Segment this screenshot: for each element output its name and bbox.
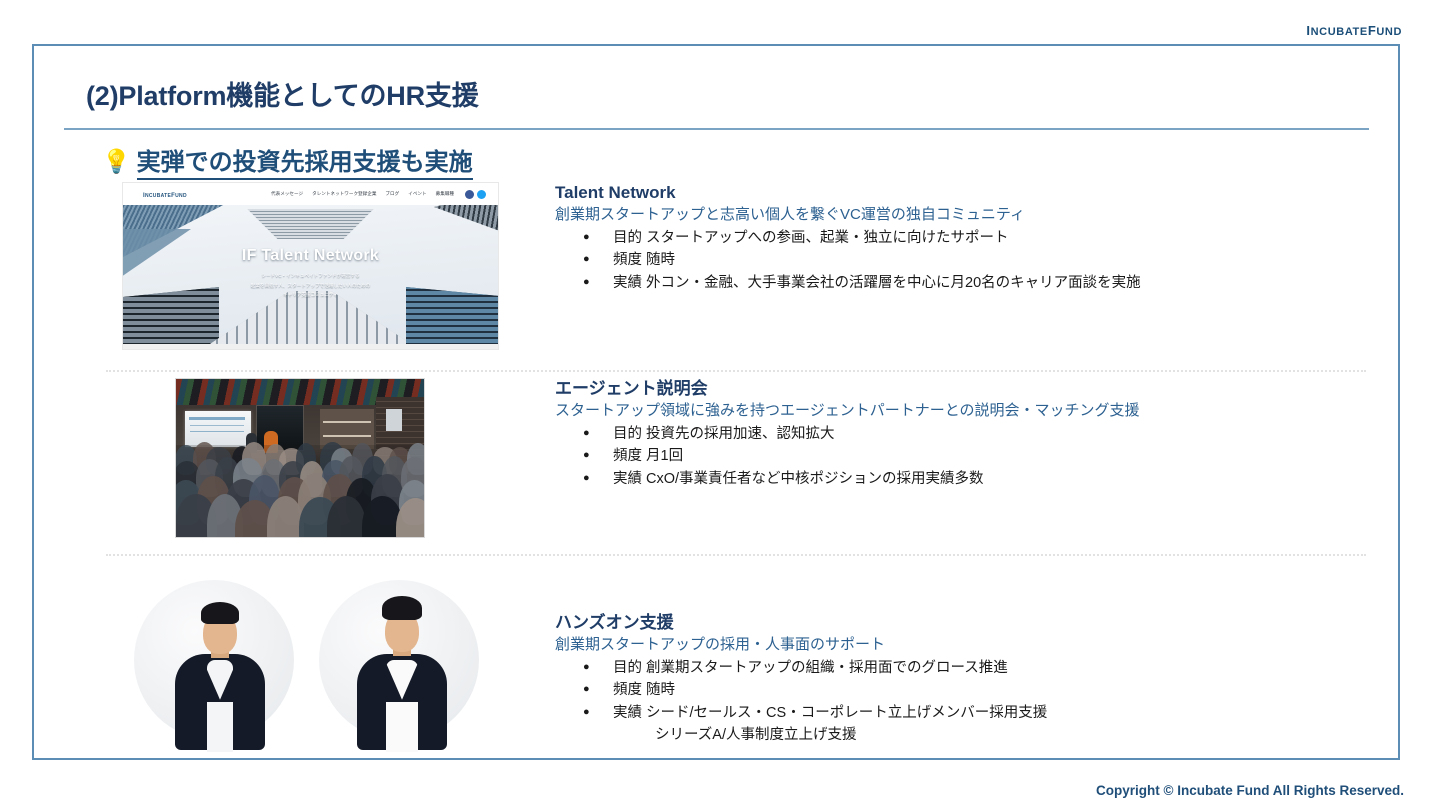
facebook-icon [465, 190, 474, 199]
incubate-fund-logo: IncubateFund [1306, 20, 1402, 39]
section-divider [106, 554, 1366, 556]
section-divider [106, 370, 1366, 372]
slide-canvas: IncubateFund (2)Platform機能としてのHR支援 💡 実弾で… [0, 0, 1440, 810]
title-divider [64, 128, 1369, 130]
block-bullet-list: 目的 創業期スタートアップの組織・採用面でのグロース推進 頻度 随時 実績 シー… [555, 657, 1385, 747]
building-top-right [434, 205, 498, 243]
website-navbar: IncubateFund 代表メッセージ タレントネットワーク登録企業 ブログ … [123, 183, 498, 205]
nav-link: 募集職種 [436, 191, 454, 197]
twitter-icon [477, 190, 486, 199]
block-title: ハンズオン支援 [555, 612, 1385, 633]
hero-sub-line: キャリア支援コミュニティ [123, 290, 498, 300]
lightbulb-icon: 💡 [102, 150, 131, 173]
page-title: (2)Platform機能としてのHR支援 [86, 74, 479, 113]
block-copy-agent-briefing: エージェント説明会 スタートアップ領域に強みを持つエージェントパートナーとの説明… [555, 378, 1385, 490]
bullet-item: 頻度 随時 [555, 249, 1385, 271]
portrait-hair [382, 596, 422, 620]
portrait-suit [357, 654, 447, 750]
portrait-lapel-right [401, 656, 421, 702]
website-hero-title: IF Talent Network [123, 247, 498, 265]
footer-copyright: Copyright © Incubate Fund All Rights Res… [1096, 783, 1404, 798]
nav-link: ブログ [385, 191, 399, 197]
member-portraits [134, 572, 504, 752]
nav-link: イベント [408, 191, 426, 197]
nav-link: 代表メッセージ [271, 191, 303, 197]
block-bullet-list: 目的 スタートアップへの参画、起業・独立に向けたサポート 頻度 随時 実績 外コ… [555, 227, 1385, 294]
hero-sub-line: 起業を目指す人、スタートアップで活躍したい人のための [123, 281, 498, 291]
block-subtitle: スタートアップ領域に強みを持つエージェントパートナーとの説明会・マッチング支援 [555, 401, 1385, 421]
bullet-item: 実績 CxO/事業責任者など中核ポジションの採用実績多数 [555, 468, 1385, 490]
media-website-screenshot: IncubateFund 代表メッセージ タレントネットワーク登録企業 ブログ … [122, 182, 499, 350]
media-seminar-photo [175, 378, 425, 538]
bullet-item: 実績 外コン・金融、大手事業会社の活躍層を中心に月20名のキャリア面談を実施 [555, 272, 1385, 294]
portrait-lapel-right [219, 656, 239, 702]
nav-link: タレントネットワーク登録企業 [312, 191, 376, 197]
bullet-item: 目的 投資先の採用加速、認知拡大 [555, 423, 1385, 445]
portrait-hair [201, 602, 239, 624]
website-hero-subtitle: シードVC・インキュベイトファンドが運営する 起業を目指す人、スタートアップで活… [123, 271, 498, 300]
bullet-item-continuation: シリーズA/人事制度立上げ支援 [555, 724, 1385, 746]
portrait-member-1 [134, 572, 300, 750]
hero-sub-line: シードVC・インキュベイトファンドが運営する [123, 271, 498, 281]
bullet-item: 目的 スタートアップへの参画、起業・独立に向けたサポート [555, 227, 1385, 249]
block-bullet-list: 目的 投資先の採用加速、認知拡大 頻度 月1回 実績 CxO/事業責任者など中核… [555, 423, 1385, 490]
portrait-lapel-left [201, 656, 221, 702]
bullet-item: 頻度 随時 [555, 679, 1385, 701]
section-heading: 💡 実弾での投資先採用支援も実施 [102, 142, 473, 180]
website-footer-strip [123, 344, 498, 349]
bullet-item: 目的 創業期スタートアップの組織・採用面でのグロース推進 [555, 657, 1385, 679]
block-subtitle: 創業期スタートアップと志高い個人を繋ぐVC運営の独自コミュニティ [555, 205, 1385, 225]
block-title: エージェント説明会 [555, 378, 1385, 399]
audience-crowd [176, 445, 424, 537]
website-logo: IncubateFund [143, 190, 187, 199]
slide-frame: (2)Platform機能としてのHR支援 💡 実弾での投資先採用支援も実施 I… [32, 44, 1400, 760]
portrait-lapel-left [383, 656, 403, 702]
talent-network-website-shot: IncubateFund 代表メッセージ タレントネットワーク登録企業 ブログ … [122, 182, 499, 350]
block-copy-talent-network: Talent Network 創業期スタートアップと志高い個人を繋ぐVC運営の独… [555, 182, 1385, 294]
block-title: Talent Network [555, 182, 1385, 203]
block-copy-hands-on: ハンズオン支援 創業期スタートアップの採用・人事面のサポート 目的 創業期スター… [555, 612, 1385, 747]
bullet-item: 実績 シード/セールス・CS・コーポレート立上げメンバー採用支援 [555, 702, 1385, 724]
seminar-photo [175, 378, 425, 538]
bullet-item: 頻度 月1回 [555, 445, 1385, 467]
website-nav-links: 代表メッセージ タレントネットワーク登録企業 ブログ イベント 募集職種 [271, 191, 454, 197]
section-heading-label: 実弾での投資先採用支援も実施 [137, 142, 473, 180]
building-top-center [236, 209, 386, 239]
website-social-icons [465, 190, 486, 199]
media-portraits [134, 572, 504, 752]
portrait-suit [175, 654, 265, 750]
block-subtitle: 創業期スタートアップの採用・人事面のサポート [555, 635, 1385, 655]
website-hero: IF Talent Network シードVC・インキュベイトファンドが運営する… [123, 205, 498, 347]
portrait-member-2 [319, 572, 485, 750]
presentation-screen [185, 411, 251, 447]
